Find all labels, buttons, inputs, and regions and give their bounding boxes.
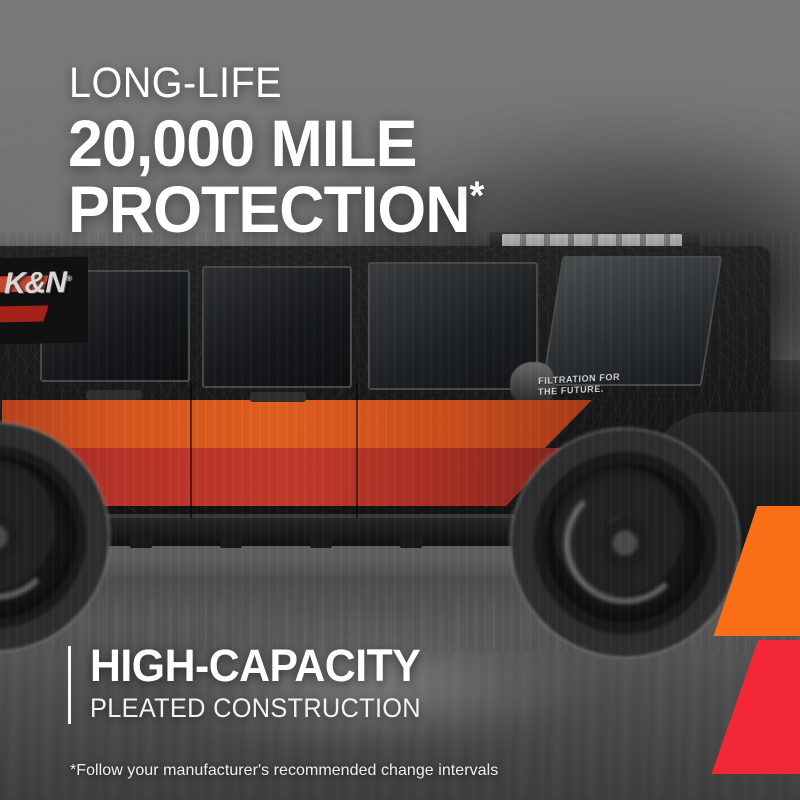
subheading-caption: PLEATED CONSTRUCTION [90,692,421,724]
ad-copy-layer: LONG-LIFE 20,000 MILE PROTECTION* HIGH-C… [0,0,800,800]
eyebrow-text: LONG-LIFE [69,58,282,108]
headline-line-2-wrap: PROTECTION* [68,176,483,242]
subheading-block: HIGH-CAPACITY PLEATED CONSTRUCTION [68,642,442,724]
headline-line-1: 20,000 MILE [68,110,483,176]
headline-line-2: PROTECTION [68,172,470,246]
footnote-disclaimer: *Follow your manufacturer's recommended … [70,762,498,780]
subheading-text-group: HIGH-CAPACITY PLEATED CONSTRUCTION [90,642,442,724]
subheading-title: HIGH-CAPACITY [90,642,424,689]
headline: 20,000 MILE PROTECTION* [68,110,483,242]
vertical-divider-bar [68,646,71,724]
headline-asterisk: * [470,174,484,218]
kn-filters-ad: FILTRATION FOR THE FUTURE. K&N® [0,0,800,800]
